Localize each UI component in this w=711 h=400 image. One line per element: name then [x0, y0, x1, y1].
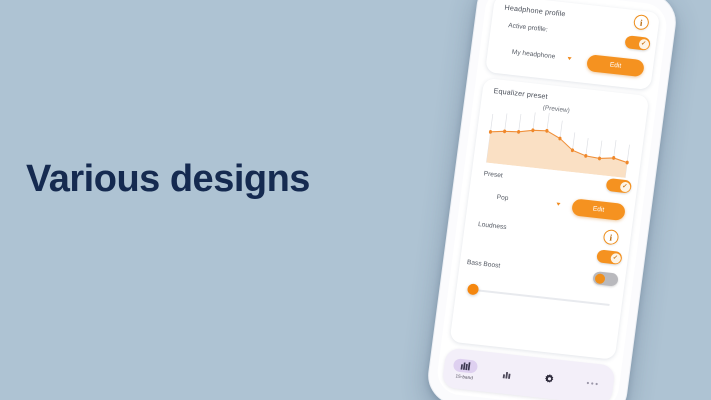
headphone-profile-title: Headphone profile	[504, 3, 566, 19]
nav-item-bar-chart[interactable]	[486, 365, 530, 383]
nav-label-15-band: 15-band	[455, 373, 473, 380]
phone-frame: Headphone profile Active profile: i ✓ My…	[425, 0, 680, 400]
bass-boost-slider[interactable]	[467, 283, 611, 310]
headphone-info-icon[interactable]: i	[633, 14, 650, 31]
toggle-knob-icon	[594, 273, 605, 284]
headphone-edit-button[interactable]: Edit	[586, 54, 645, 77]
profile-dropdown-value[interactable]: My headphone	[511, 49, 555, 61]
page-title: Various designs	[26, 158, 310, 201]
chevron-down-icon[interactable]	[567, 57, 571, 60]
loudness-label: Loudness	[478, 221, 507, 231]
phone-mockup: Headphone profile Active profile: i ✓ My…	[425, 0, 680, 400]
bar-chart-icon	[495, 366, 521, 382]
equalizer-preset-card: Equalizer preset (Preview) Preset ✓ Pop	[450, 78, 650, 360]
headphone-profile-toggle[interactable]: ✓	[624, 35, 651, 51]
toggle-knob-check-icon: ✓	[638, 38, 649, 49]
phone-screen: Headphone profile Active profile: i ✓ My…	[435, 0, 669, 400]
nav-item-more[interactable]	[570, 375, 614, 393]
more-horizontal-icon	[579, 376, 605, 392]
preset-label: Preset	[483, 170, 503, 179]
preset-edit-button[interactable]: Edit	[571, 198, 626, 221]
equalizer-fill-area	[486, 125, 630, 178]
nav-item-settings[interactable]	[528, 370, 572, 388]
nav-item-15-band[interactable]: 15-band	[443, 357, 488, 381]
loudness-toggle[interactable]: ✓	[596, 249, 623, 265]
toggle-knob-check-icon: ✓	[610, 252, 621, 263]
equalizer-curve-svg	[483, 101, 636, 178]
equalizer-curve-chart[interactable]	[483, 101, 636, 178]
bass-boost-toggle[interactable]	[592, 271, 619, 287]
preset-dropdown-value[interactable]: Pop	[496, 194, 509, 202]
equalizer-bars-icon	[453, 358, 479, 374]
slider-handle[interactable]	[467, 283, 479, 295]
active-profile-label: Active profile:	[508, 22, 548, 33]
preset-toggle[interactable]: ✓	[606, 178, 633, 194]
headphone-profile-card: Headphone profile Active profile: i ✓ My…	[485, 0, 660, 90]
chevron-down-icon[interactable]	[556, 203, 560, 206]
loudness-info-icon[interactable]: i	[603, 229, 620, 246]
gear-icon	[537, 371, 563, 387]
bass-boost-label: Bass Boost	[467, 259, 501, 270]
slider-track	[467, 288, 609, 306]
toggle-knob-check-icon: ✓	[619, 181, 630, 192]
equalizer-preset-title: Equalizer preset	[493, 86, 548, 101]
